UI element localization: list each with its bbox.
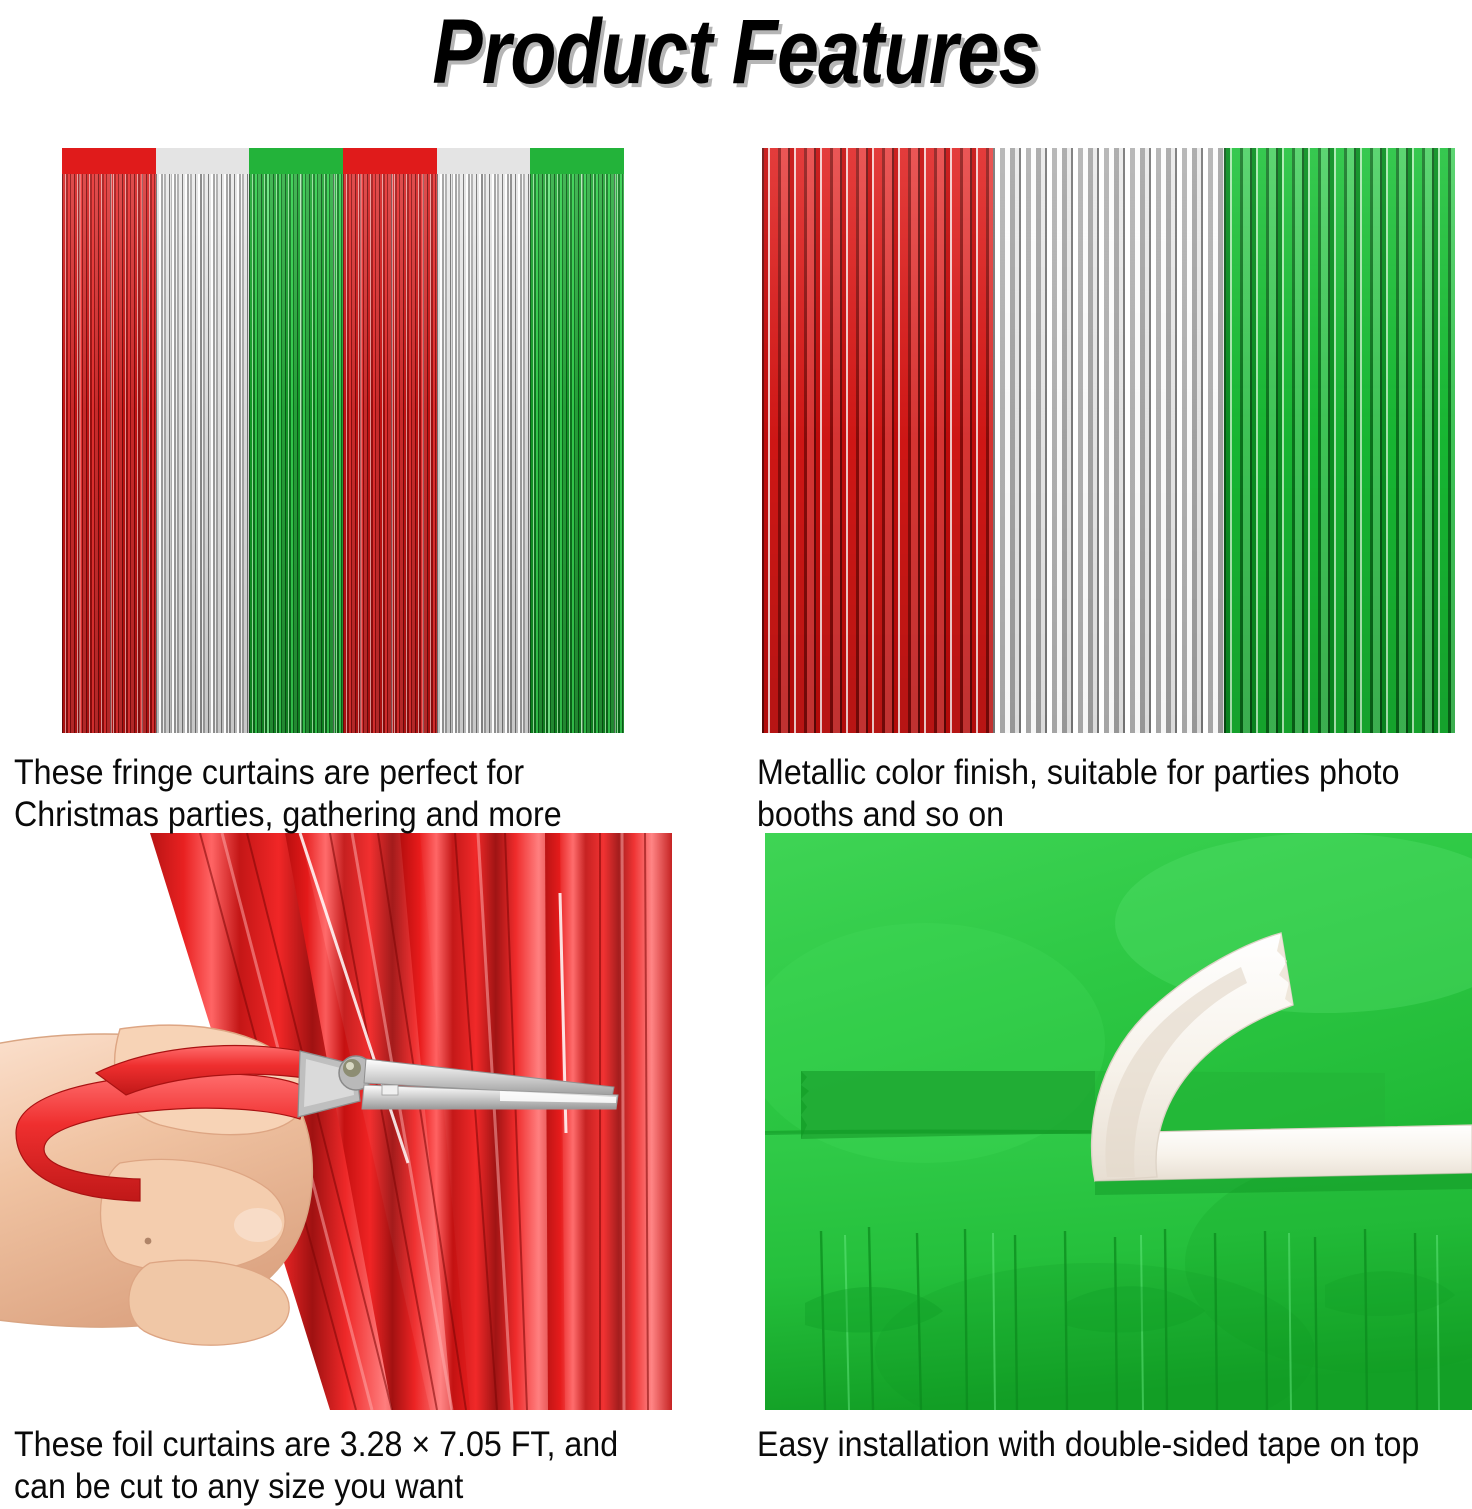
foil-strands [156, 148, 250, 733]
curtain-panel-red [343, 148, 437, 733]
foil-strands [437, 148, 531, 733]
caption-fringe-curtain-set: These fringe curtains are perfect for Ch… [14, 752, 713, 837]
curtain-panel-silver [993, 148, 1224, 733]
foil-strands [762, 148, 993, 733]
curtain-strip-group [762, 148, 1455, 733]
caption-cut-to-size: These foil curtains are 3.28 × 7.05 FT, … [14, 1424, 713, 1509]
foil-strands [530, 148, 624, 733]
curtain-panel-green [1224, 148, 1455, 733]
foil-strands [1224, 148, 1455, 733]
curtain-panel-red [62, 148, 156, 733]
caption-double-sided-tape: Easy installation with double-sided tape… [757, 1424, 1472, 1466]
tape-illustration [765, 833, 1472, 1410]
curtain-panel-silver [156, 148, 250, 733]
curtain-strip-group [62, 148, 624, 733]
curtain-panel-green [530, 148, 624, 733]
cutting-scene [0, 833, 672, 1410]
curtain-header-band [156, 148, 250, 174]
foil-strands [62, 148, 156, 733]
cutting-to-size-photo [0, 833, 672, 1410]
metallic-finish-closeup-photo [762, 148, 1455, 733]
foil-strands [993, 148, 1224, 733]
curtain-header-band [62, 148, 156, 174]
double-sided-tape-photo [765, 833, 1472, 1410]
curtain-panel-silver [437, 148, 531, 733]
curtain-header-band [530, 148, 624, 174]
curtain-header-band [249, 148, 343, 174]
fringe-curtain-set-photo [62, 148, 624, 733]
page-title: Product Features [132, 6, 1339, 98]
curtain-header-band [437, 148, 531, 174]
tape-scene [765, 833, 1472, 1410]
curtain-header-band [343, 148, 437, 174]
foil-strands [343, 148, 437, 733]
curtain-panel-red [762, 148, 993, 733]
cutting-illustration [0, 833, 672, 1410]
foil-strands [249, 148, 343, 733]
caption-metallic-finish: Metallic color finish, suitable for part… [757, 752, 1472, 837]
curtain-panel-green [249, 148, 343, 733]
